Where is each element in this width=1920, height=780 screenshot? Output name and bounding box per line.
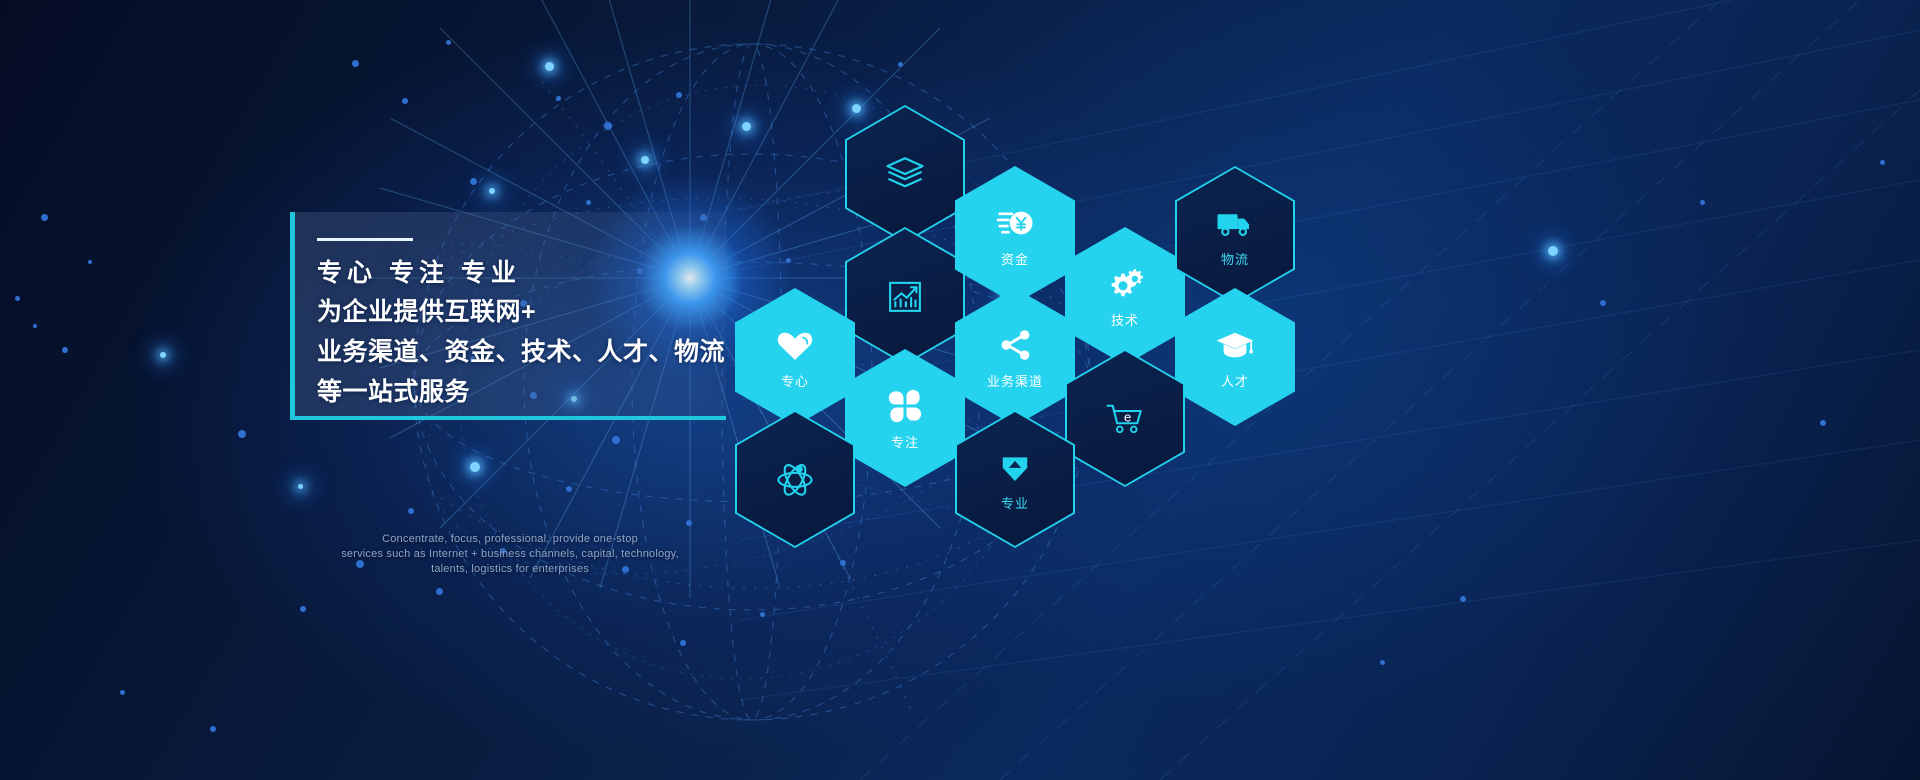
hex-label: 业务渠道	[987, 371, 1043, 390]
hex-label: 技术	[1111, 310, 1139, 329]
hex-label: 专业	[1001, 493, 1029, 512]
subtitle-line-1: Concentrate, focus, professional, provid…	[290, 532, 730, 547]
hex-layers[interactable]	[845, 105, 965, 243]
hex-label: 物流	[1221, 249, 1249, 268]
subtitle-block: Concentrate, focus, professional, provid…	[290, 532, 730, 577]
headline-line-1: 专心 专注 专业	[317, 254, 729, 292]
heart-icon	[774, 324, 816, 366]
yen-coin-icon	[994, 202, 1036, 244]
hex-atom[interactable]	[735, 410, 855, 548]
hex-yewuqudao[interactable]: 业务渠道	[955, 288, 1075, 426]
hex-jishu[interactable]: 技术	[1065, 227, 1185, 365]
hex-shopping-cart[interactable]: e	[1065, 349, 1185, 487]
hex-label: 专注	[891, 432, 919, 451]
gears-icon	[1104, 263, 1146, 305]
headline-line-2: 为企业提供互联网+	[317, 292, 729, 332]
hex-zhuanzhu[interactable]: 专注	[845, 349, 965, 487]
diamond-icon	[994, 446, 1036, 488]
hex-zijin[interactable]: 资金	[955, 166, 1075, 304]
headline-block: 专心 专注 专业 为企业提供互联网+ 业务渠道、资金、技术、人才、物流 等一站式…	[317, 254, 729, 412]
hex-rencai[interactable]: 人才	[1175, 288, 1295, 426]
decorative-rule	[317, 238, 413, 241]
subtitle-line-2: services such as Internet + business cha…	[290, 547, 730, 562]
banner-stage: 专心 专注 专业 为企业提供互联网+ 业务渠道、资金、技术、人才、物流 等一站式…	[0, 0, 1920, 780]
hex-zhuanxin[interactable]: 专心	[735, 288, 855, 426]
graduation-cap-icon	[1214, 324, 1256, 366]
headline-line-4: 等一站式服务	[317, 372, 729, 412]
atom-icon	[774, 458, 816, 500]
hex-label: 资金	[1001, 249, 1029, 268]
headline-line-3: 业务渠道、资金、技术、人才、物流	[317, 332, 729, 372]
hex-label: 专心	[781, 371, 809, 390]
headline-panel: 专心 专注 专业 为企业提供互联网+ 业务渠道、资金、技术、人才、物流 等一站式…	[290, 212, 726, 420]
svg-text:e: e	[1124, 410, 1131, 425]
bar-chart-icon	[884, 275, 926, 317]
hexagon-cluster: 专心	[735, 105, 1295, 525]
subtitle-line-3: talents, logistics for enterprises	[290, 562, 730, 577]
truck-icon	[1214, 202, 1256, 244]
layers-icon	[884, 153, 926, 195]
hex-wuliu[interactable]: 物流	[1175, 166, 1295, 304]
hex-bar-chart[interactable]	[845, 227, 965, 365]
share-nodes-icon	[994, 324, 1036, 366]
hex-label: 人才	[1221, 371, 1249, 390]
shopping-cart-icon: e	[1104, 397, 1146, 439]
hex-zhuanye[interactable]: 专业	[955, 410, 1075, 548]
clover-icon	[884, 385, 926, 427]
